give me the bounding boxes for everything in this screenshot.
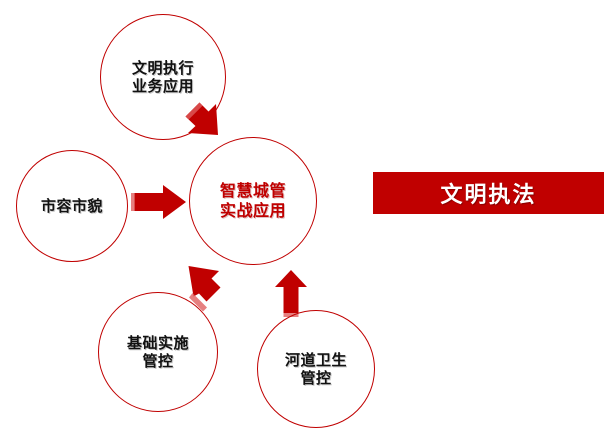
- diagram-node-bottom-left[interactable]: 基础实施 管控: [98, 292, 218, 412]
- diagram-node-center[interactable]: 智慧城管 实战应用: [189, 137, 317, 265]
- arrow-bottom-right-to-center-icon: [275, 270, 307, 317]
- diagram-node-center-label: 智慧城管 实战应用: [220, 181, 286, 220]
- arrow-left-to-center-icon: [131, 185, 186, 219]
- title-banner-label: 文明执法: [440, 177, 536, 209]
- diagram-node-bottom-right-label: 河道卫生 管控: [285, 351, 347, 388]
- diagram-node-left[interactable]: 市容市貌: [16, 150, 128, 262]
- diagram-node-top[interactable]: 文明执行 业务应用: [100, 14, 226, 140]
- diagram-canvas: 智慧城管 实战应用 文明执行 业务应用 市容市貌 基础实施 管控 河道卫生 管控…: [0, 0, 614, 447]
- title-banner: 文明执法: [373, 172, 604, 214]
- diagram-node-top-label: 文明执行 业务应用: [132, 59, 194, 96]
- diagram-node-bottom-right[interactable]: 河道卫生 管控: [257, 310, 375, 428]
- diagram-node-bottom-left-label: 基础实施 管控: [127, 334, 189, 371]
- diagram-node-left-label: 市容市貌: [41, 197, 103, 215]
